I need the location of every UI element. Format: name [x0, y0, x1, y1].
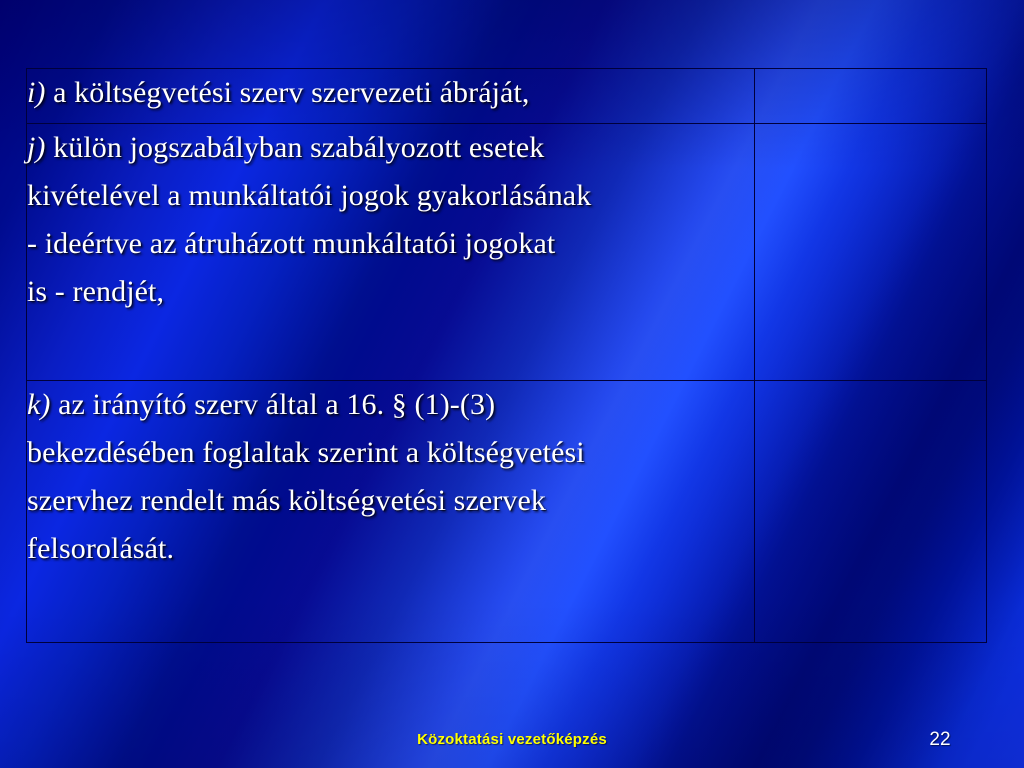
table-cell-blank [755, 381, 987, 643]
list-marker-j: j) [27, 131, 46, 164]
table-cell-blank [755, 69, 987, 124]
table-row: j) külön jogszabályban szabályozott eset… [27, 124, 987, 381]
list-item-k: k) az irányító szerv által a 16. § (1)-(… [27, 381, 754, 573]
list-text-k: az irányító szerv által a 16. § (1)-(3) … [27, 388, 585, 565]
table-cell-text: j) külön jogszabályban szabályozott eset… [27, 124, 755, 381]
footer-title: Közoktatási vezetőképzés [0, 731, 1024, 748]
table-cell-text: k) az irányító szerv által a 16. § (1)-(… [27, 381, 755, 643]
list-item-j: j) külön jogszabályban szabályozott eset… [27, 124, 754, 316]
list-text-j: külön jogszabályban szabályozott esetek … [27, 131, 591, 308]
table-row: i) a költségvetési szerv szervezeti ábrá… [27, 69, 987, 124]
page-number: 22 [900, 729, 980, 751]
list-marker-k: k) [27, 388, 51, 421]
table-cell-blank [755, 124, 987, 381]
table-cell-text: i) a költségvetési szerv szervezeti ábrá… [27, 69, 755, 124]
list-item-i: i) a költségvetési szerv szervezeti ábrá… [27, 69, 754, 117]
list-marker-i: i) [27, 76, 46, 109]
table-row: k) az irányító szerv által a 16. § (1)-(… [27, 381, 987, 643]
list-text-i: a költségvetési szerv szervezeti ábráját… [46, 76, 530, 109]
slide-canvas: i) a költségvetési szerv szervezeti ábrá… [0, 0, 1024, 768]
content-table: i) a költségvetési szerv szervezeti ábrá… [26, 68, 987, 643]
